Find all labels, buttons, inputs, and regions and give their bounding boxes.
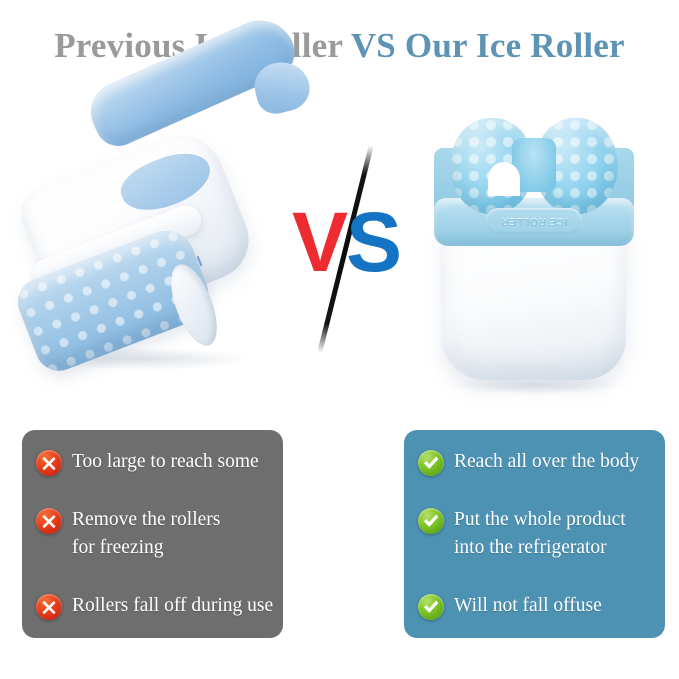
right-product-brand-badge: ICE ROLLER xyxy=(486,208,582,234)
cons-list-item-texts: Rollers fall off during use xyxy=(72,592,273,620)
pros-list-item-line: Reach all over the body xyxy=(454,448,639,476)
product-image-our-ice-roller: ICE ROLLER xyxy=(420,100,660,380)
page-title: Previous Ice Roller VS Our Ice Roller xyxy=(0,26,679,66)
cons-panel: Too large to reach some Remove the rolle… xyxy=(22,430,283,638)
cons-list-item: Too large to reach some xyxy=(36,448,269,476)
pros-list-item-line: Put the whole product xyxy=(454,506,626,534)
right-product-dual-roller xyxy=(450,118,618,214)
pros-list-item-texts: Reach all over the body xyxy=(454,448,639,476)
pros-list-item-line: Will not fall offuse xyxy=(454,592,602,620)
page-title-ours-segment: VS Our Ice Roller xyxy=(351,26,625,65)
pros-list-item: Reach all over the body xyxy=(418,448,651,476)
vs-letters: VS xyxy=(281,200,411,284)
cons-list-item-line: Too large to reach some xyxy=(72,448,259,476)
pros-panel: Reach all over the body Put the whole pr… xyxy=(404,430,665,638)
product-comparison-stage: ICE ROLLER VS ICE ROLLER xyxy=(0,84,679,404)
right-product-roller-notch xyxy=(488,162,520,196)
vs-badge: VS xyxy=(281,144,411,354)
cons-list-item-line: Remove the rollers xyxy=(72,506,220,534)
cons-list-item: Remove the rollers for freezing xyxy=(36,506,269,561)
pros-list: Reach all over the body Put the whole pr… xyxy=(418,448,651,620)
cons-list-item-line: for freezing xyxy=(72,534,220,562)
red-cross-icon xyxy=(36,594,62,620)
pros-list-item: Will not fall offuse xyxy=(418,592,651,620)
pros-list-item-texts: Put the whole product into the refrigera… xyxy=(454,506,626,561)
cons-list: Too large to reach some Remove the rolle… xyxy=(36,448,269,620)
vs-letter-s: S xyxy=(346,195,400,289)
pros-list-item-texts: Will not fall offuse xyxy=(454,592,602,620)
green-check-icon xyxy=(418,450,444,476)
green-check-icon xyxy=(418,508,444,534)
vs-letter-v: V xyxy=(292,195,346,289)
cons-list-item-texts: Too large to reach some xyxy=(72,448,259,476)
pros-list-item: Put the whole product into the refrigera… xyxy=(418,506,651,561)
cons-list-item-texts: Remove the rollers for freezing xyxy=(72,506,220,561)
product-image-previous-ice-roller: ICE ROLLER xyxy=(8,84,298,394)
red-cross-icon xyxy=(36,450,62,476)
pros-list-item-line: into the refrigerator xyxy=(454,534,626,562)
cons-list-item-line: Rollers fall off during use xyxy=(72,592,273,620)
red-cross-icon xyxy=(36,508,62,534)
green-check-icon xyxy=(418,594,444,620)
right-product-brand-label: ICE ROLLER xyxy=(501,216,568,227)
cons-list-item: Rollers fall off during use xyxy=(36,592,269,620)
